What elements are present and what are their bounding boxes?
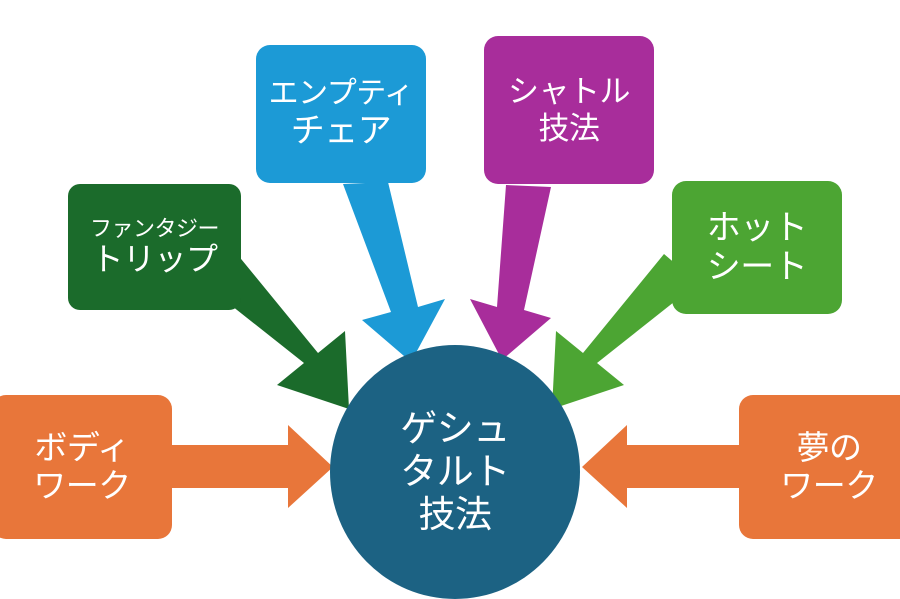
diagram-canvas: エンプティ チェア シャトル 技法 ファンタジー トリップ ホット シート ボデ…: [0, 0, 900, 599]
node-fantasy-trip-line-1: ファンタジー: [90, 217, 219, 241]
node-gestalt-technique[interactable]: ゲシュ タルト 技法: [330, 345, 580, 599]
node-empty-chair-line-2: チェア: [291, 113, 392, 150]
node-body-work[interactable]: ボディ ワーク: [0, 395, 172, 539]
node-hot-seat-line-1: ホット: [707, 210, 808, 247]
node-dream-work-line-2: ワーク: [780, 468, 878, 504]
node-shuttle-technique-line-1: シャトル: [508, 75, 630, 108]
node-shuttle-technique-line-2: 技法: [539, 112, 600, 145]
node-gestalt-technique-line-3: 技法: [419, 495, 492, 535]
node-empty-chair-line-1: エンプティ: [269, 78, 414, 110]
node-dream-work-line-1: 夢の: [797, 430, 862, 466]
node-dream-work[interactable]: 夢の ワーク: [739, 395, 900, 539]
arrow-shuttle-to-center: [470, 185, 551, 360]
node-fantasy-trip-line-2: トリップ: [91, 242, 217, 277]
node-fantasy-trip[interactable]: ファンタジー トリップ: [68, 184, 241, 310]
node-empty-chair[interactable]: エンプティ チェア: [256, 45, 426, 183]
node-gestalt-technique-line-1: ゲシュ: [400, 409, 510, 449]
node-hot-seat-line-2: シート: [707, 249, 808, 286]
node-gestalt-technique-line-2: タルト: [400, 452, 510, 492]
node-shuttle-technique[interactable]: シャトル 技法: [484, 36, 654, 184]
arrow-body-work-to-center: [170, 425, 333, 508]
node-body-work-line-2: ワーク: [33, 468, 131, 504]
arrow-empty-chair-to-center: [343, 182, 445, 362]
node-body-work-line-1: ボディ: [34, 430, 129, 466]
arrow-dream-work-to-center: [582, 425, 745, 508]
node-hot-seat[interactable]: ホット シート: [672, 181, 842, 314]
